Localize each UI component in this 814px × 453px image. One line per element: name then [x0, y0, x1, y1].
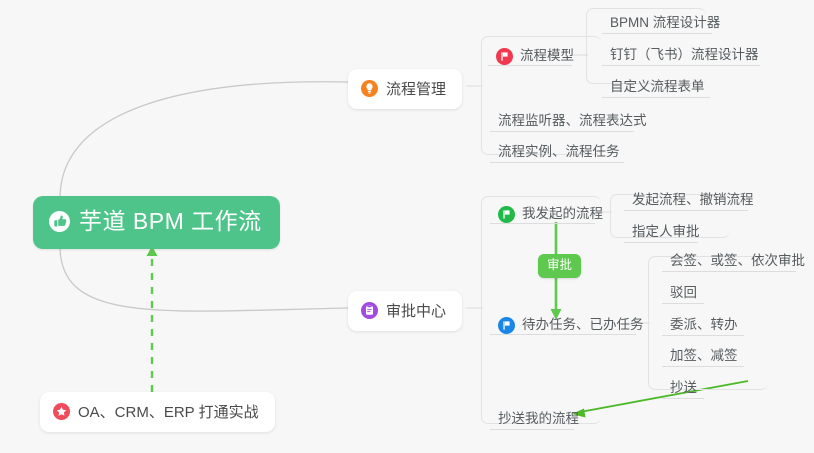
node-label-my-started-processes: 我发起的流程: [522, 207, 603, 222]
dashed-green-arrow: [147, 246, 158, 392]
approval-tag-label: 审批: [547, 258, 572, 272]
node-label-dingtalk-designer: 钉钉（飞书）流程设计器: [610, 48, 759, 63]
flag-icon: [496, 48, 513, 65]
node-label-countersign: 会签、或签、依次审批: [670, 254, 805, 269]
underline: [488, 65, 572, 66]
underline: [490, 131, 634, 132]
underline: [490, 223, 595, 224]
underline: [602, 33, 712, 34]
underline: [662, 271, 796, 272]
node-my-started-processes[interactable]: 我发起的流程: [492, 202, 609, 228]
underline: [662, 303, 704, 304]
branch-node-approval-center[interactable]: 审批中心: [348, 291, 462, 331]
bottom-note-node[interactable]: OA、CRM、ERP 打通实战: [40, 392, 275, 432]
bracket-approval-center: [481, 196, 601, 424]
flag-icon: [498, 317, 515, 334]
node-label-todo-done-tasks: 待办任务、已办任务: [522, 318, 644, 333]
branch-label-process-management: 流程管理: [386, 78, 446, 99]
root-node[interactable]: 芋道 BPM 工作流: [33, 196, 280, 249]
lightbulb-icon: [361, 80, 378, 97]
root-label: 芋道 BPM 工作流: [79, 210, 262, 233]
mindmap-canvas: 芋道 BPM 工作流 流程管理 流程模型 BPMN 流程设计器 钉: [0, 0, 814, 453]
underline: [662, 398, 704, 399]
thumbs-up-icon: [49, 211, 70, 232]
node-label-bpmn-designer: BPMN 流程设计器: [610, 16, 720, 31]
approval-tag: 审批: [538, 254, 581, 278]
branch-label-approval-center: 审批中心: [386, 300, 446, 321]
node-label-assignee-approval: 指定人审批: [632, 225, 700, 240]
node-label-process-model: 流程模型: [520, 49, 574, 64]
underline: [662, 335, 744, 336]
node-todo-done-tasks[interactable]: 待办任务、已办任务: [492, 313, 650, 339]
node-label-listener-expression: 流程监听器、流程表达式: [498, 114, 647, 129]
flag-icon: [498, 206, 515, 223]
bottom-note-label: OA、CRM、ERP 打通实战: [78, 401, 259, 422]
node-label-cc-to-me: 抄送我的流程: [498, 412, 579, 427]
node-label-instance-task: 流程实例、流程任务: [498, 145, 620, 160]
underline: [602, 65, 760, 66]
underline: [662, 366, 744, 367]
underline: [602, 97, 710, 98]
branch-node-process-management[interactable]: 流程管理: [348, 69, 462, 109]
underline: [490, 429, 574, 430]
node-label-reject: 驳回: [670, 286, 697, 301]
node-label-add-remove-sign: 加签、减签: [670, 349, 738, 364]
node-label-custom-form: 自定义流程表单: [610, 80, 705, 95]
node-label-delegate-transfer: 委派、转办: [670, 318, 738, 333]
node-label-start-cancel-process: 发起流程、撤销流程: [632, 193, 754, 208]
underline: [624, 242, 698, 243]
node-label-cc: 抄送: [670, 381, 697, 396]
clipboard-icon: [361, 302, 378, 319]
node-process-model[interactable]: 流程模型: [490, 44, 580, 70]
underline: [624, 210, 748, 211]
star-icon: [53, 403, 70, 420]
underline: [490, 334, 636, 335]
underline: [490, 162, 624, 163]
